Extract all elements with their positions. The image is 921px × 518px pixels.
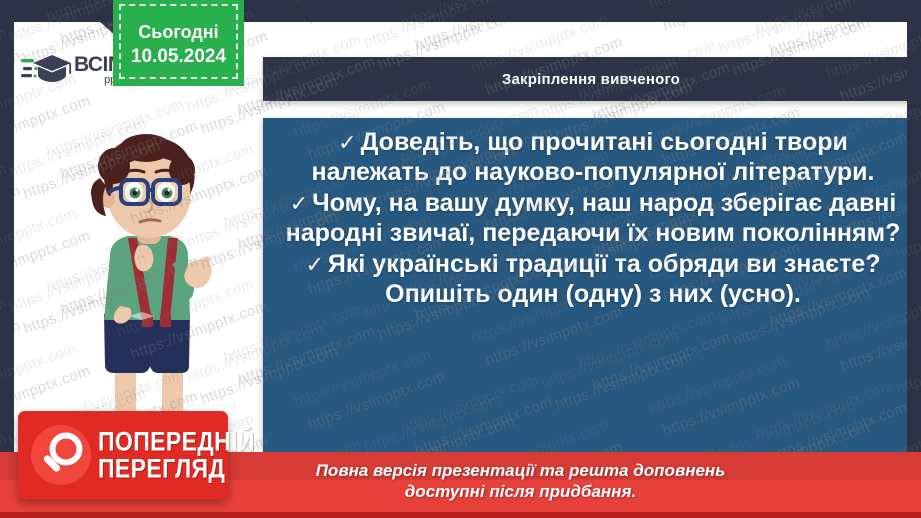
list-item: ✓Чому, на вашу думку, наш народ зберігає… (281, 189, 905, 248)
graduation-cap-icon (20, 50, 72, 90)
preview-button-line2: ПЕРЕГЛЯД (98, 455, 255, 482)
list-item-text: Доведіть, що прочитані сьогодні твори на… (311, 128, 874, 186)
slide-root: ВСІМ pptx Закріплення вивченого ✓Доведіт… (0, 0, 921, 518)
preview-button-line1: ПОПЕРЕДНІЙ (98, 428, 255, 455)
date-badge-label: Сьогодні (138, 22, 218, 43)
page-title: Закріплення вивченого (502, 71, 680, 88)
preview-button[interactable]: ПОПЕРЕДНІЙ ПЕРЕГЛЯД (18, 411, 228, 499)
check-icon: ✓ (290, 191, 308, 216)
notice-line-2: доступні після придбання. (405, 482, 636, 503)
list-item-text: Які українські традиції та обряди ви зна… (328, 250, 881, 308)
notice-line-1: Повна версія презентації та решта доповн… (316, 461, 726, 482)
content-panel: ✓Доведіть, що прочитані сьогодні твори н… (263, 118, 907, 506)
date-badge: Сьогодні 10.05.2024 (113, 0, 244, 86)
check-icon: ✓ (305, 252, 323, 277)
list-item: ✓Які українські традиції та обряди ви зн… (281, 250, 905, 309)
preview-button-label: ПОПЕРЕДНІЙ ПЕРЕГЛЯД (98, 428, 255, 482)
check-icon: ✓ (338, 130, 356, 155)
list-item-text: Чому, на вашу думку, наш народ зберігає … (286, 189, 901, 247)
date-badge-value: 10.05.2024 (131, 46, 226, 68)
magnifier-icon (30, 424, 92, 486)
list-item: ✓Доведіть, що прочитані сьогодні твори н… (281, 128, 905, 187)
thinking-boy-illustration (42, 128, 257, 440)
slide-header-bar: Закріплення вивченого (263, 57, 907, 101)
